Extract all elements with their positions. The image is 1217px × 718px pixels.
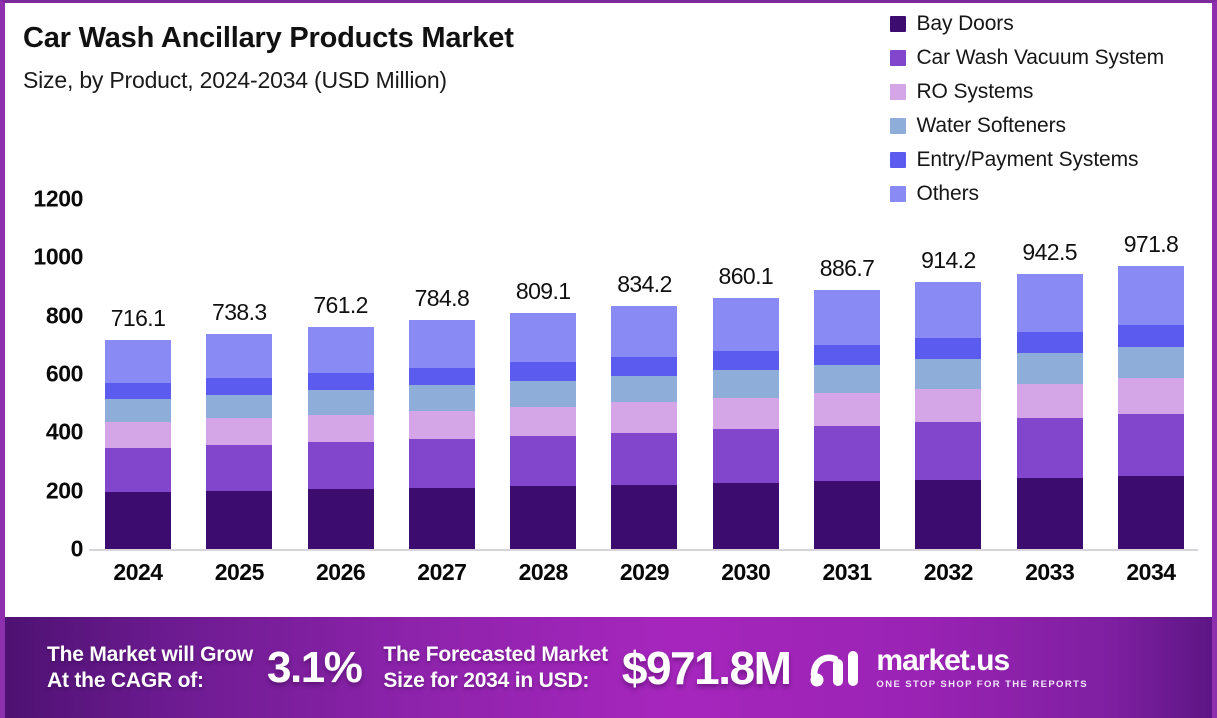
bar-column[interactable]: 738.3 xyxy=(194,199,284,549)
bar-segment[interactable] xyxy=(915,282,981,338)
bar-total-label: 971.8 xyxy=(1124,231,1179,258)
legend-swatch-icon xyxy=(890,84,906,100)
bar-segment[interactable] xyxy=(409,439,475,487)
bar-segment[interactable] xyxy=(510,381,576,407)
x-axis-tick-label: 2027 xyxy=(397,559,487,586)
bar-segment[interactable] xyxy=(308,489,374,549)
bar-column[interactable]: 860.1 xyxy=(701,199,791,549)
forecast-size-block: The Forecasted Market Size for 2034 in U… xyxy=(383,642,806,693)
bar-segment[interactable] xyxy=(1118,325,1184,347)
chart-subtitle: Size, by Product, 2024-2034 (USD Million… xyxy=(23,67,823,94)
bar-total-label: 914.2 xyxy=(921,247,976,274)
bar-segment[interactable] xyxy=(713,429,779,483)
bar-segment[interactable] xyxy=(1118,378,1184,414)
y-axis-tick-label: 1000 xyxy=(33,244,83,271)
bar-column[interactable]: 942.5 xyxy=(1005,199,1095,549)
bar-segment[interactable] xyxy=(510,407,576,436)
bar-stack xyxy=(611,306,677,549)
bar-total-label: 809.1 xyxy=(516,278,571,305)
bar-segment[interactable] xyxy=(915,359,981,389)
bar-stack xyxy=(308,327,374,549)
x-axis-tick-label: 2034 xyxy=(1106,559,1196,586)
bar-segment[interactable] xyxy=(915,422,981,480)
footer-banner: The Market will Grow At the CAGR of: 3.1… xyxy=(5,617,1212,718)
bar-segment[interactable] xyxy=(915,480,981,550)
bar-column[interactable]: 716.1 xyxy=(93,199,183,549)
legend-item[interactable]: Water Softeners xyxy=(890,111,1065,140)
bar-segment[interactable] xyxy=(308,327,374,373)
cagr-block: The Market will Grow At the CAGR of: 3.1… xyxy=(47,642,383,693)
bar-stack xyxy=(510,313,576,549)
x-axis: 2024202520262027202820292030203120322033… xyxy=(93,559,1196,586)
x-axis-tick-label: 2032 xyxy=(903,559,993,586)
bar-total-label: 738.3 xyxy=(212,299,267,326)
bar-segment[interactable] xyxy=(611,433,677,485)
bar-total-label: 942.5 xyxy=(1022,239,1077,266)
bar-column[interactable]: 834.2 xyxy=(599,199,689,549)
bar-segment[interactable] xyxy=(814,393,880,425)
brand-text: market.us ONE STOP SHOP FOR THE REPORTS xyxy=(876,646,1088,690)
x-axis-tick-label: 2024 xyxy=(93,559,183,586)
bar-segment[interactable] xyxy=(206,334,272,378)
x-axis-tick-label: 2031 xyxy=(802,559,892,586)
bar-series-container: 716.1738.3761.2784.8809.1834.2860.1886.7… xyxy=(93,199,1196,549)
bar-segment[interactable] xyxy=(1118,414,1184,476)
bar-segment[interactable] xyxy=(206,491,272,549)
forecast-size-label: The Forecasted Market Size for 2034 in U… xyxy=(383,642,608,693)
legend-swatch-icon xyxy=(890,118,906,134)
bar-segment[interactable] xyxy=(1017,353,1083,384)
bar-segment[interactable] xyxy=(713,298,779,351)
bar-segment[interactable] xyxy=(1017,478,1083,549)
bar-segment[interactable] xyxy=(510,436,576,486)
bar-segment[interactable] xyxy=(713,351,779,370)
bar-segment[interactable] xyxy=(814,481,880,549)
forecast-size-value: $971.8M xyxy=(622,645,791,691)
legend-item[interactable]: Entry/Payment Systems xyxy=(890,145,1138,174)
bar-segment[interactable] xyxy=(105,422,171,448)
bar-segment[interactable] xyxy=(814,365,880,394)
legend-item-label: Car Wash Vacuum System xyxy=(916,46,1164,70)
y-axis-tick-label: 1200 xyxy=(33,186,83,213)
bar-segment[interactable] xyxy=(1118,266,1184,325)
bar-column[interactable]: 784.8 xyxy=(397,199,487,549)
y-axis-tick-label: 200 xyxy=(46,477,83,504)
bar-stack xyxy=(206,334,272,549)
bar-stack xyxy=(1017,274,1083,549)
bar-segment[interactable] xyxy=(1017,274,1083,332)
bar-segment[interactable] xyxy=(915,338,981,359)
bar-total-label: 886.7 xyxy=(820,255,875,282)
x-axis-tick-label: 2026 xyxy=(296,559,386,586)
x-axis-tick-label: 2029 xyxy=(599,559,689,586)
bar-segment[interactable] xyxy=(611,376,677,403)
bar-segment[interactable] xyxy=(611,357,677,376)
bar-segment[interactable] xyxy=(105,340,171,383)
bar-segment[interactable] xyxy=(206,378,272,395)
bar-segment[interactable] xyxy=(814,426,880,482)
bar-segment[interactable] xyxy=(308,390,374,415)
bar-column[interactable]: 971.8 xyxy=(1106,199,1196,549)
legend-item-label: Water Softeners xyxy=(916,114,1065,138)
legend-swatch-icon xyxy=(890,16,906,32)
bar-segment[interactable] xyxy=(814,345,880,365)
bar-segment[interactable] xyxy=(206,418,272,445)
chart-legend: Bay DoorsCar Wash Vacuum SystemRO System… xyxy=(890,9,1164,208)
bar-segment[interactable] xyxy=(105,492,171,549)
bar-stack xyxy=(915,282,981,549)
axis-baseline xyxy=(89,549,1198,551)
bar-segment[interactable] xyxy=(308,373,374,390)
bar-segment[interactable] xyxy=(206,395,272,419)
bar-segment[interactable] xyxy=(409,385,475,410)
bar-column[interactable]: 809.1 xyxy=(498,199,588,549)
x-axis-tick-label: 2033 xyxy=(1005,559,1095,586)
page-title: Car Wash Ancillary Products Market xyxy=(23,23,823,55)
bar-total-label: 784.8 xyxy=(415,285,470,312)
bar-segment[interactable] xyxy=(713,370,779,398)
y-axis-tick-label: 800 xyxy=(46,302,83,329)
bar-total-label: 834.2 xyxy=(617,271,672,298)
legend-swatch-icon xyxy=(890,50,906,66)
bar-segment[interactable] xyxy=(409,368,475,386)
bar-segment[interactable] xyxy=(1017,332,1083,353)
cagr-label: The Market will Grow At the CAGR of: xyxy=(47,642,253,693)
brand-name: market.us xyxy=(876,646,1088,676)
cagr-value: 3.1% xyxy=(267,646,361,690)
chart-plot-area: 120010008006004002000 716.1738.3761.2784… xyxy=(5,199,1212,599)
bar-total-label: 716.1 xyxy=(111,305,166,332)
bar-segment[interactable] xyxy=(409,411,475,440)
bar-total-label: 860.1 xyxy=(719,263,774,290)
infographic-root: Car Wash Ancillary Products Market Size,… xyxy=(0,0,1217,718)
chart-header: Car Wash Ancillary Products Market Size,… xyxy=(23,23,823,94)
bar-stack xyxy=(409,320,475,549)
bar-total-label: 761.2 xyxy=(313,292,368,319)
legend-swatch-icon xyxy=(890,152,906,168)
bar-segment[interactable] xyxy=(915,389,981,422)
bar-segment[interactable] xyxy=(1017,384,1083,418)
bar-segment[interactable] xyxy=(1017,418,1083,478)
market-us-logo[interactable]: market.us ONE STOP SHOP FOR THE REPORTS xyxy=(808,646,1088,690)
bar-stack xyxy=(814,290,880,549)
bar-stack xyxy=(713,298,779,549)
bar-column[interactable]: 761.2 xyxy=(296,199,386,549)
brand-mark-icon xyxy=(808,647,864,689)
x-axis-tick-label: 2028 xyxy=(498,559,588,586)
bar-segment[interactable] xyxy=(510,362,576,380)
bar-segment[interactable] xyxy=(308,415,374,443)
bar-segment[interactable] xyxy=(206,445,272,490)
legend-item-label: Bay Doors xyxy=(916,12,1013,36)
bar-segment[interactable] xyxy=(611,306,677,357)
bar-segment[interactable] xyxy=(611,485,677,549)
bar-segment[interactable] xyxy=(105,448,171,492)
bar-column[interactable]: 886.7 xyxy=(802,199,892,549)
bar-segment[interactable] xyxy=(611,402,677,432)
y-axis-tick-label: 0 xyxy=(71,536,83,563)
y-axis-tick-label: 400 xyxy=(46,419,83,446)
legend-item-label: RO Systems xyxy=(916,80,1033,104)
bar-segment[interactable] xyxy=(510,313,576,362)
brand-tagline: ONE STOP SHOP FOR THE REPORTS xyxy=(876,679,1088,690)
bar-segment[interactable] xyxy=(409,320,475,368)
legend-item-label: Entry/Payment Systems xyxy=(916,148,1138,172)
legend-item[interactable]: Bay Doors xyxy=(890,9,1013,38)
legend-item[interactable]: RO Systems xyxy=(890,77,1033,106)
bar-segment[interactable] xyxy=(105,383,171,399)
bar-segment[interactable] xyxy=(1118,476,1184,549)
bar-segment[interactable] xyxy=(105,399,171,422)
bar-stack xyxy=(105,340,171,549)
bar-segment[interactable] xyxy=(1118,347,1184,379)
bar-segment[interactable] xyxy=(713,398,779,429)
bar-segment[interactable] xyxy=(409,488,475,549)
bar-segment[interactable] xyxy=(713,483,779,549)
bar-segment[interactable] xyxy=(510,486,576,549)
y-axis-tick-label: 600 xyxy=(46,361,83,388)
x-axis-tick-label: 2025 xyxy=(194,559,284,586)
bar-column[interactable]: 914.2 xyxy=(903,199,993,549)
bar-segment[interactable] xyxy=(814,290,880,344)
legend-item[interactable]: Car Wash Vacuum System xyxy=(890,43,1164,72)
y-axis: 120010008006004002000 xyxy=(5,199,93,559)
x-axis-tick-label: 2030 xyxy=(701,559,791,586)
bar-stack xyxy=(1118,266,1184,549)
bar-segment[interactable] xyxy=(308,442,374,489)
